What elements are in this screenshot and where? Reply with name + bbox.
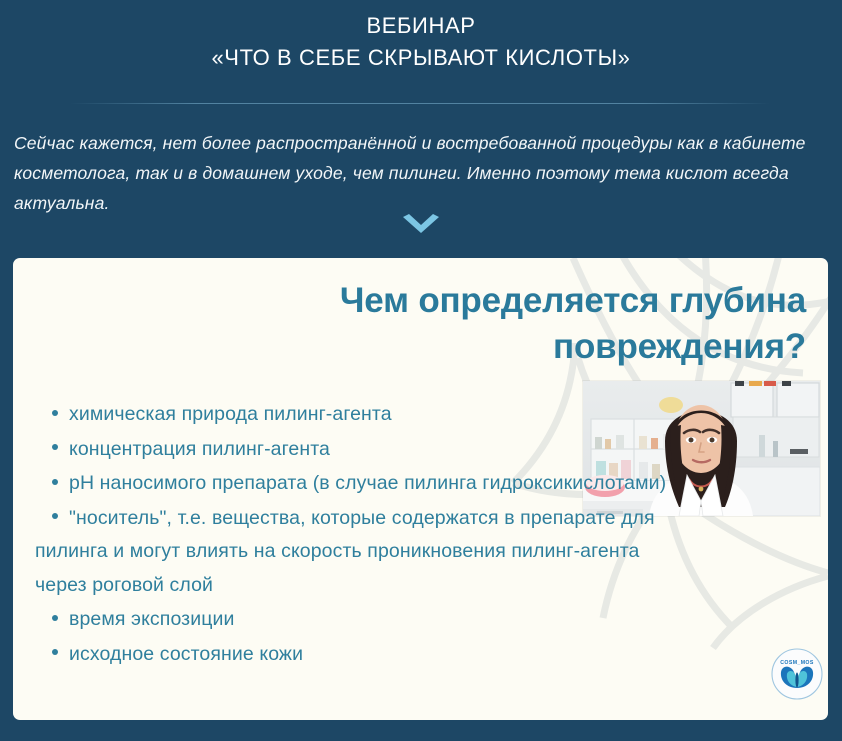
header-title-line-2: «ЧТО В СЕБЕ СКРЫВАЮТ КИСЛОТЫ» [0,42,842,74]
list-item: время экспозиции [35,603,695,637]
slide-card: Чем определяется глубина повреждения? [13,258,828,720]
list-item-label: исходное состояние кожи [69,643,303,665]
intro-paragraph: Сейчас кажется, нет более распространённ… [14,128,814,218]
cosm-mos-logo: COSM_MOS [771,648,823,700]
header-divider [70,103,770,104]
logo-text: COSM_MOS [780,660,814,666]
list-item-label: "носитель", т.е. вещества, которые содер… [35,507,655,596]
slide-title-line-2: повреждения? [206,324,806,370]
slide-title-line-1: Чем определяется глубина [206,278,806,324]
list-item-label: химическая природа пилинг-агента [69,403,392,425]
bullet-dot-icon [52,649,58,655]
header-title-line-1: ВЕБИНАР [0,10,842,42]
bullet-dot-icon [52,410,58,416]
list-item: исходное состояние кожи [35,638,695,672]
list-item-label: концентрация пилинг-агента [69,438,330,460]
scroll-hint[interactable] [0,212,842,240]
bullet-dot-icon [52,615,58,621]
bullet-dot-icon [52,513,58,519]
slide-title: Чем определяется глубина повреждения? [206,278,806,370]
list-item: "носитель", т.е. вещества, которые содер… [35,502,695,603]
list-item: химическая природа пилинг-агента [35,398,695,432]
list-item-label: время экспозиции [69,608,234,630]
bullet-dot-icon [52,479,58,485]
chevron-down-icon[interactable] [399,212,443,240]
webinar-page: ВЕБИНАР «ЧТО В СЕБЕ СКРЫВАЮТ КИСЛОТЫ» Се… [0,0,842,741]
page-header: ВЕБИНАР «ЧТО В СЕБЕ СКРЫВАЮТ КИСЛОТЫ» [0,0,842,104]
list-item-label: pH наносимого препарата (в случае пилинг… [69,472,666,494]
list-item: концентрация пилинг-агента [35,433,695,467]
bullet-list: химическая природа пилинг-агента концент… [35,398,695,672]
list-item: pH наносимого препарата (в случае пилинг… [35,467,695,501]
bullet-dot-icon [52,444,58,450]
